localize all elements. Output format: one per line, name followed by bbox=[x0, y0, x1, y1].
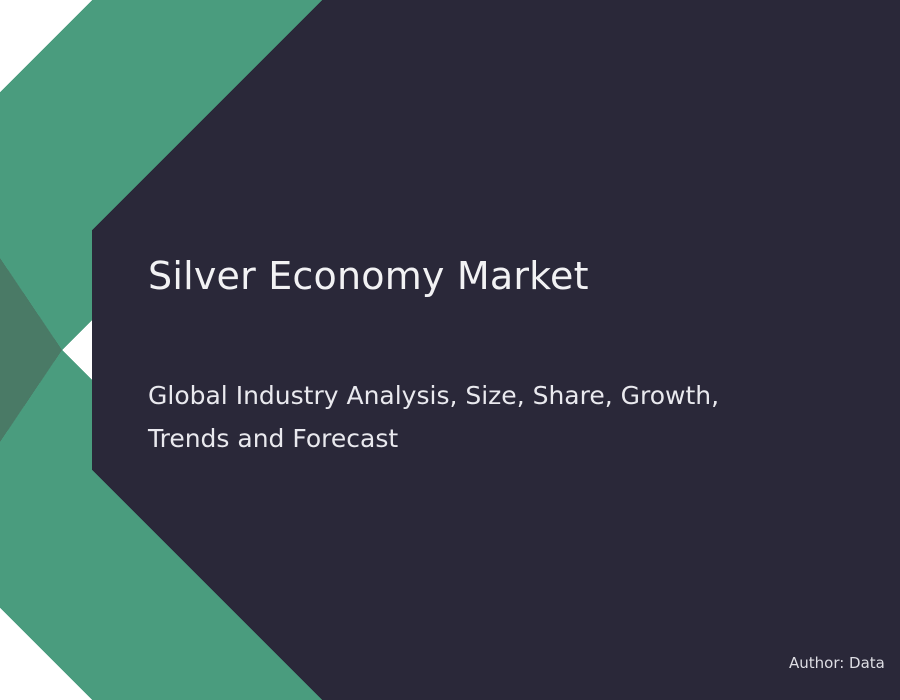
subtitle-line-1: Global Industry Analysis, Size, Share, G… bbox=[148, 381, 719, 410]
title-slide: Silver Economy Market Global Industry An… bbox=[0, 0, 900, 700]
slide-content: Silver Economy Market Global Industry An… bbox=[0, 0, 900, 700]
author-credit: Author: Data bbox=[789, 654, 885, 672]
subtitle-line-2: Trends and Forecast bbox=[148, 424, 398, 453]
slide-subtitle: Global Industry Analysis, Size, Share, G… bbox=[148, 374, 828, 460]
page-title: Silver Economy Market bbox=[148, 255, 848, 299]
